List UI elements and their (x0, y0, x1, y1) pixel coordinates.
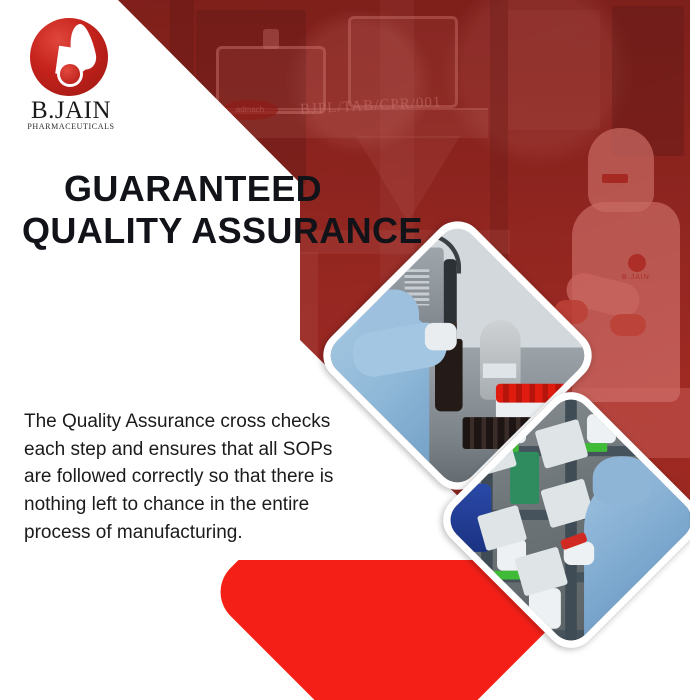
warehouse-worker-hood (592, 457, 650, 504)
logo-wordmark: B.JAIN (12, 98, 130, 123)
headline: GUARANTEED QUALITY ASSURANCE (64, 168, 484, 253)
lab-operator-glove (424, 322, 457, 350)
headline-line-1: GUARANTEED (64, 168, 484, 210)
bjain-logo: B.JAIN PHARMACEUTICALS (12, 18, 130, 126)
bjain-flame-circle-icon (30, 18, 108, 96)
logo-dot (60, 64, 80, 84)
poster-canvas: admach BJPL/TAB/CPR/001 B.JAIN (0, 0, 690, 700)
headline-line-2: QUALITY ASSURANCE (22, 210, 484, 252)
body-copy: The Quality Assurance cross checks each … (24, 408, 360, 547)
logo-subword: PHARMACEUTICALS (12, 122, 130, 131)
lab-canister-label (482, 364, 515, 378)
shelf-label-card (535, 420, 589, 470)
